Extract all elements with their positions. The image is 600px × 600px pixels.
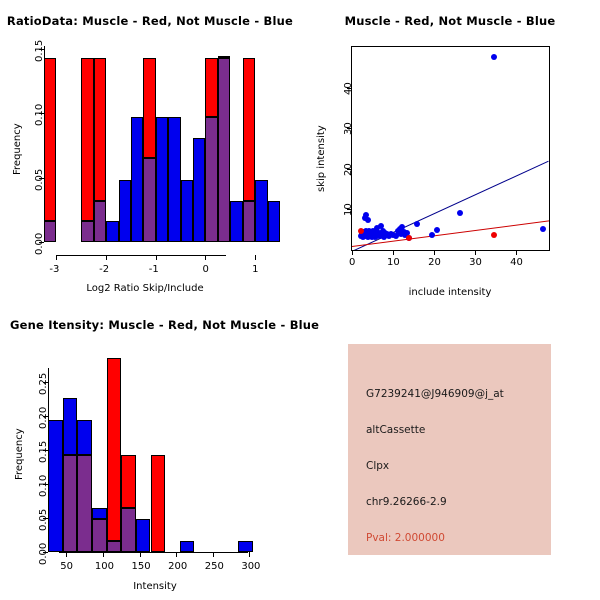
scatter-y-tick-label: 40 bbox=[343, 82, 354, 95]
ratio-x-tick bbox=[156, 255, 157, 260]
scatter-point bbox=[429, 232, 435, 238]
histogram-bar bbox=[77, 455, 92, 552]
scatter-point bbox=[540, 226, 546, 232]
gene-y-tick-label: 0.05 bbox=[38, 509, 49, 531]
histogram-bar bbox=[94, 58, 106, 201]
histogram-bar bbox=[151, 455, 166, 552]
info-gene-symbol: Clpx bbox=[366, 460, 389, 472]
info-pval: Pval: 2.000000 bbox=[366, 532, 445, 544]
gene-x-tick-label: 150 bbox=[132, 561, 151, 572]
ratio-histogram-panel: RatioData: Muscle - Red, Not Muscle - Bl… bbox=[0, 0, 300, 300]
scatter-point bbox=[406, 235, 412, 241]
scatter-point bbox=[434, 227, 440, 233]
histogram-bar bbox=[143, 158, 155, 242]
histogram-bar bbox=[77, 420, 92, 455]
gene-y-tick-label: 0.10 bbox=[38, 475, 49, 497]
ratio-y-axis-title: Frequency bbox=[12, 123, 23, 175]
histogram-bar bbox=[121, 455, 136, 508]
gene-x-axis bbox=[59, 552, 248, 553]
gene-x-tick-label: 250 bbox=[205, 561, 224, 572]
ratio-x-axis bbox=[56, 255, 226, 256]
gene-y-axis-title: Frequency bbox=[14, 428, 25, 480]
gene-y-tick-label: 0.15 bbox=[38, 441, 49, 463]
ratio-x-tick-label: 0 bbox=[202, 264, 208, 275]
histogram-bar bbox=[255, 180, 267, 242]
gene-x-tick bbox=[176, 552, 177, 557]
gene-x-tick bbox=[66, 552, 67, 557]
gene-x-tick bbox=[103, 552, 104, 557]
ratio-x-tick-label: -2 bbox=[99, 264, 109, 275]
gene-y-tick-label: 0.25 bbox=[38, 373, 49, 395]
histogram-bar bbox=[44, 221, 56, 242]
histogram-bar bbox=[181, 180, 193, 242]
ratio-x-tick-label: -3 bbox=[49, 264, 59, 275]
histogram-bar bbox=[168, 117, 180, 242]
gene-y-tick-label: 0.00 bbox=[38, 543, 49, 565]
histogram-bar bbox=[119, 180, 131, 242]
scatter-x-tick bbox=[352, 250, 353, 255]
histogram-bar bbox=[48, 420, 63, 552]
histogram-bar bbox=[107, 541, 122, 552]
histogram-bar bbox=[121, 508, 136, 552]
histogram-bar bbox=[205, 58, 217, 117]
gene-x-tick-label: 200 bbox=[168, 561, 187, 572]
ratio-x-tick-label: 1 bbox=[252, 264, 258, 275]
histogram-bar bbox=[63, 398, 78, 454]
scatter-y-axis-title: skip intensity bbox=[316, 125, 327, 192]
scatter-point bbox=[491, 232, 497, 238]
scatter-point bbox=[491, 54, 497, 60]
info-locus: chr9.26266-2.9 bbox=[366, 496, 447, 508]
ratio-x-tick bbox=[106, 255, 107, 260]
scatter-title: Muscle - Red, Not Muscle - Blue bbox=[300, 14, 600, 28]
gene-x-tick bbox=[140, 552, 141, 557]
histogram-bar bbox=[205, 117, 217, 242]
gene-x-axis-title: Intensity bbox=[70, 581, 240, 592]
ratio-x-axis-title: Log2 Ratio Skip/Include bbox=[60, 283, 230, 294]
scatter-panel: Muscle - Red, Not Muscle - Blue skip int… bbox=[300, 0, 600, 300]
scatter-x-tick-label: 40 bbox=[510, 257, 523, 268]
gene-x-tick-label: 300 bbox=[241, 561, 260, 572]
ratio-y-tick-label: 0.00 bbox=[34, 233, 45, 255]
scatter-plot-area bbox=[352, 47, 549, 250]
ratio-histogram-title: RatioData: Muscle - Red, Not Muscle - Bl… bbox=[0, 14, 300, 28]
scatter-y-tick-label: 10 bbox=[343, 204, 354, 217]
scatter-point bbox=[358, 228, 364, 234]
scatter-x-tick bbox=[516, 250, 517, 255]
histogram-bar bbox=[94, 201, 106, 242]
ratio-y-tick-label: 0.05 bbox=[34, 168, 45, 190]
histogram-bar bbox=[193, 138, 205, 242]
gene-x-tick bbox=[213, 552, 214, 557]
gene-x-tick-label: 50 bbox=[60, 561, 73, 572]
ratio-x-tick-label: -1 bbox=[149, 264, 159, 275]
gene-x-tick-label: 100 bbox=[95, 561, 114, 572]
ratio-y-tick-label: 0.15 bbox=[34, 40, 45, 62]
ratio-x-tick bbox=[255, 255, 256, 260]
scatter-x-tick-label: 30 bbox=[469, 257, 482, 268]
gene-y-tick-label: 0.20 bbox=[38, 407, 49, 429]
gene-info-panel: G7239241@J946909@j_at altCassette Clpx c… bbox=[348, 344, 551, 555]
histogram-bar bbox=[180, 541, 195, 552]
scatter-x-axis-title: include intensity bbox=[360, 287, 540, 298]
scatter-x-tick bbox=[393, 250, 394, 255]
info-event-type: altCassette bbox=[366, 424, 425, 436]
histogram-bar bbox=[44, 58, 56, 221]
info-probe-id: G7239241@J946909@j_at bbox=[366, 388, 504, 400]
scatter-x-tick-label: 20 bbox=[428, 257, 441, 268]
histogram-bar bbox=[92, 508, 107, 520]
histogram-bar bbox=[230, 201, 242, 242]
histogram-bar bbox=[81, 221, 93, 242]
histogram-bar bbox=[107, 358, 122, 541]
histogram-bar bbox=[106, 221, 118, 242]
ratio-x-tick bbox=[56, 255, 57, 260]
histogram-bar bbox=[143, 58, 155, 158]
scatter-point bbox=[457, 210, 463, 216]
scatter-x-tick-label: 10 bbox=[387, 257, 400, 268]
histogram-bar bbox=[218, 58, 230, 242]
ratio-x-tick bbox=[205, 255, 206, 260]
scatter-point bbox=[414, 221, 420, 227]
histogram-bar bbox=[268, 201, 280, 242]
histogram-bar bbox=[81, 58, 93, 221]
gene-x-tick bbox=[249, 552, 250, 557]
histogram-bar bbox=[238, 541, 253, 552]
scatter-x-tick-label: 0 bbox=[349, 257, 355, 268]
scatter-x-tick bbox=[434, 250, 435, 255]
histogram-bar bbox=[131, 117, 143, 242]
histogram-bar bbox=[243, 58, 255, 201]
scatter-y-tick-label: 20 bbox=[343, 163, 354, 176]
scatter-point bbox=[365, 217, 371, 223]
gene-histogram-title: Gene Itensity: Muscle - Red, Not Muscle … bbox=[0, 318, 310, 332]
ratio-y-tick-label: 0.10 bbox=[34, 104, 45, 126]
histogram-bar bbox=[92, 519, 107, 552]
histogram-bar bbox=[156, 117, 168, 242]
histogram-bar bbox=[63, 455, 78, 552]
histogram-bar bbox=[136, 519, 151, 552]
scatter-x-tick bbox=[475, 250, 476, 255]
histogram-bar bbox=[243, 201, 255, 242]
scatter-y-tick-label: 30 bbox=[343, 122, 354, 135]
gene-histogram-panel: Gene Itensity: Muscle - Red, Not Muscle … bbox=[0, 300, 300, 600]
